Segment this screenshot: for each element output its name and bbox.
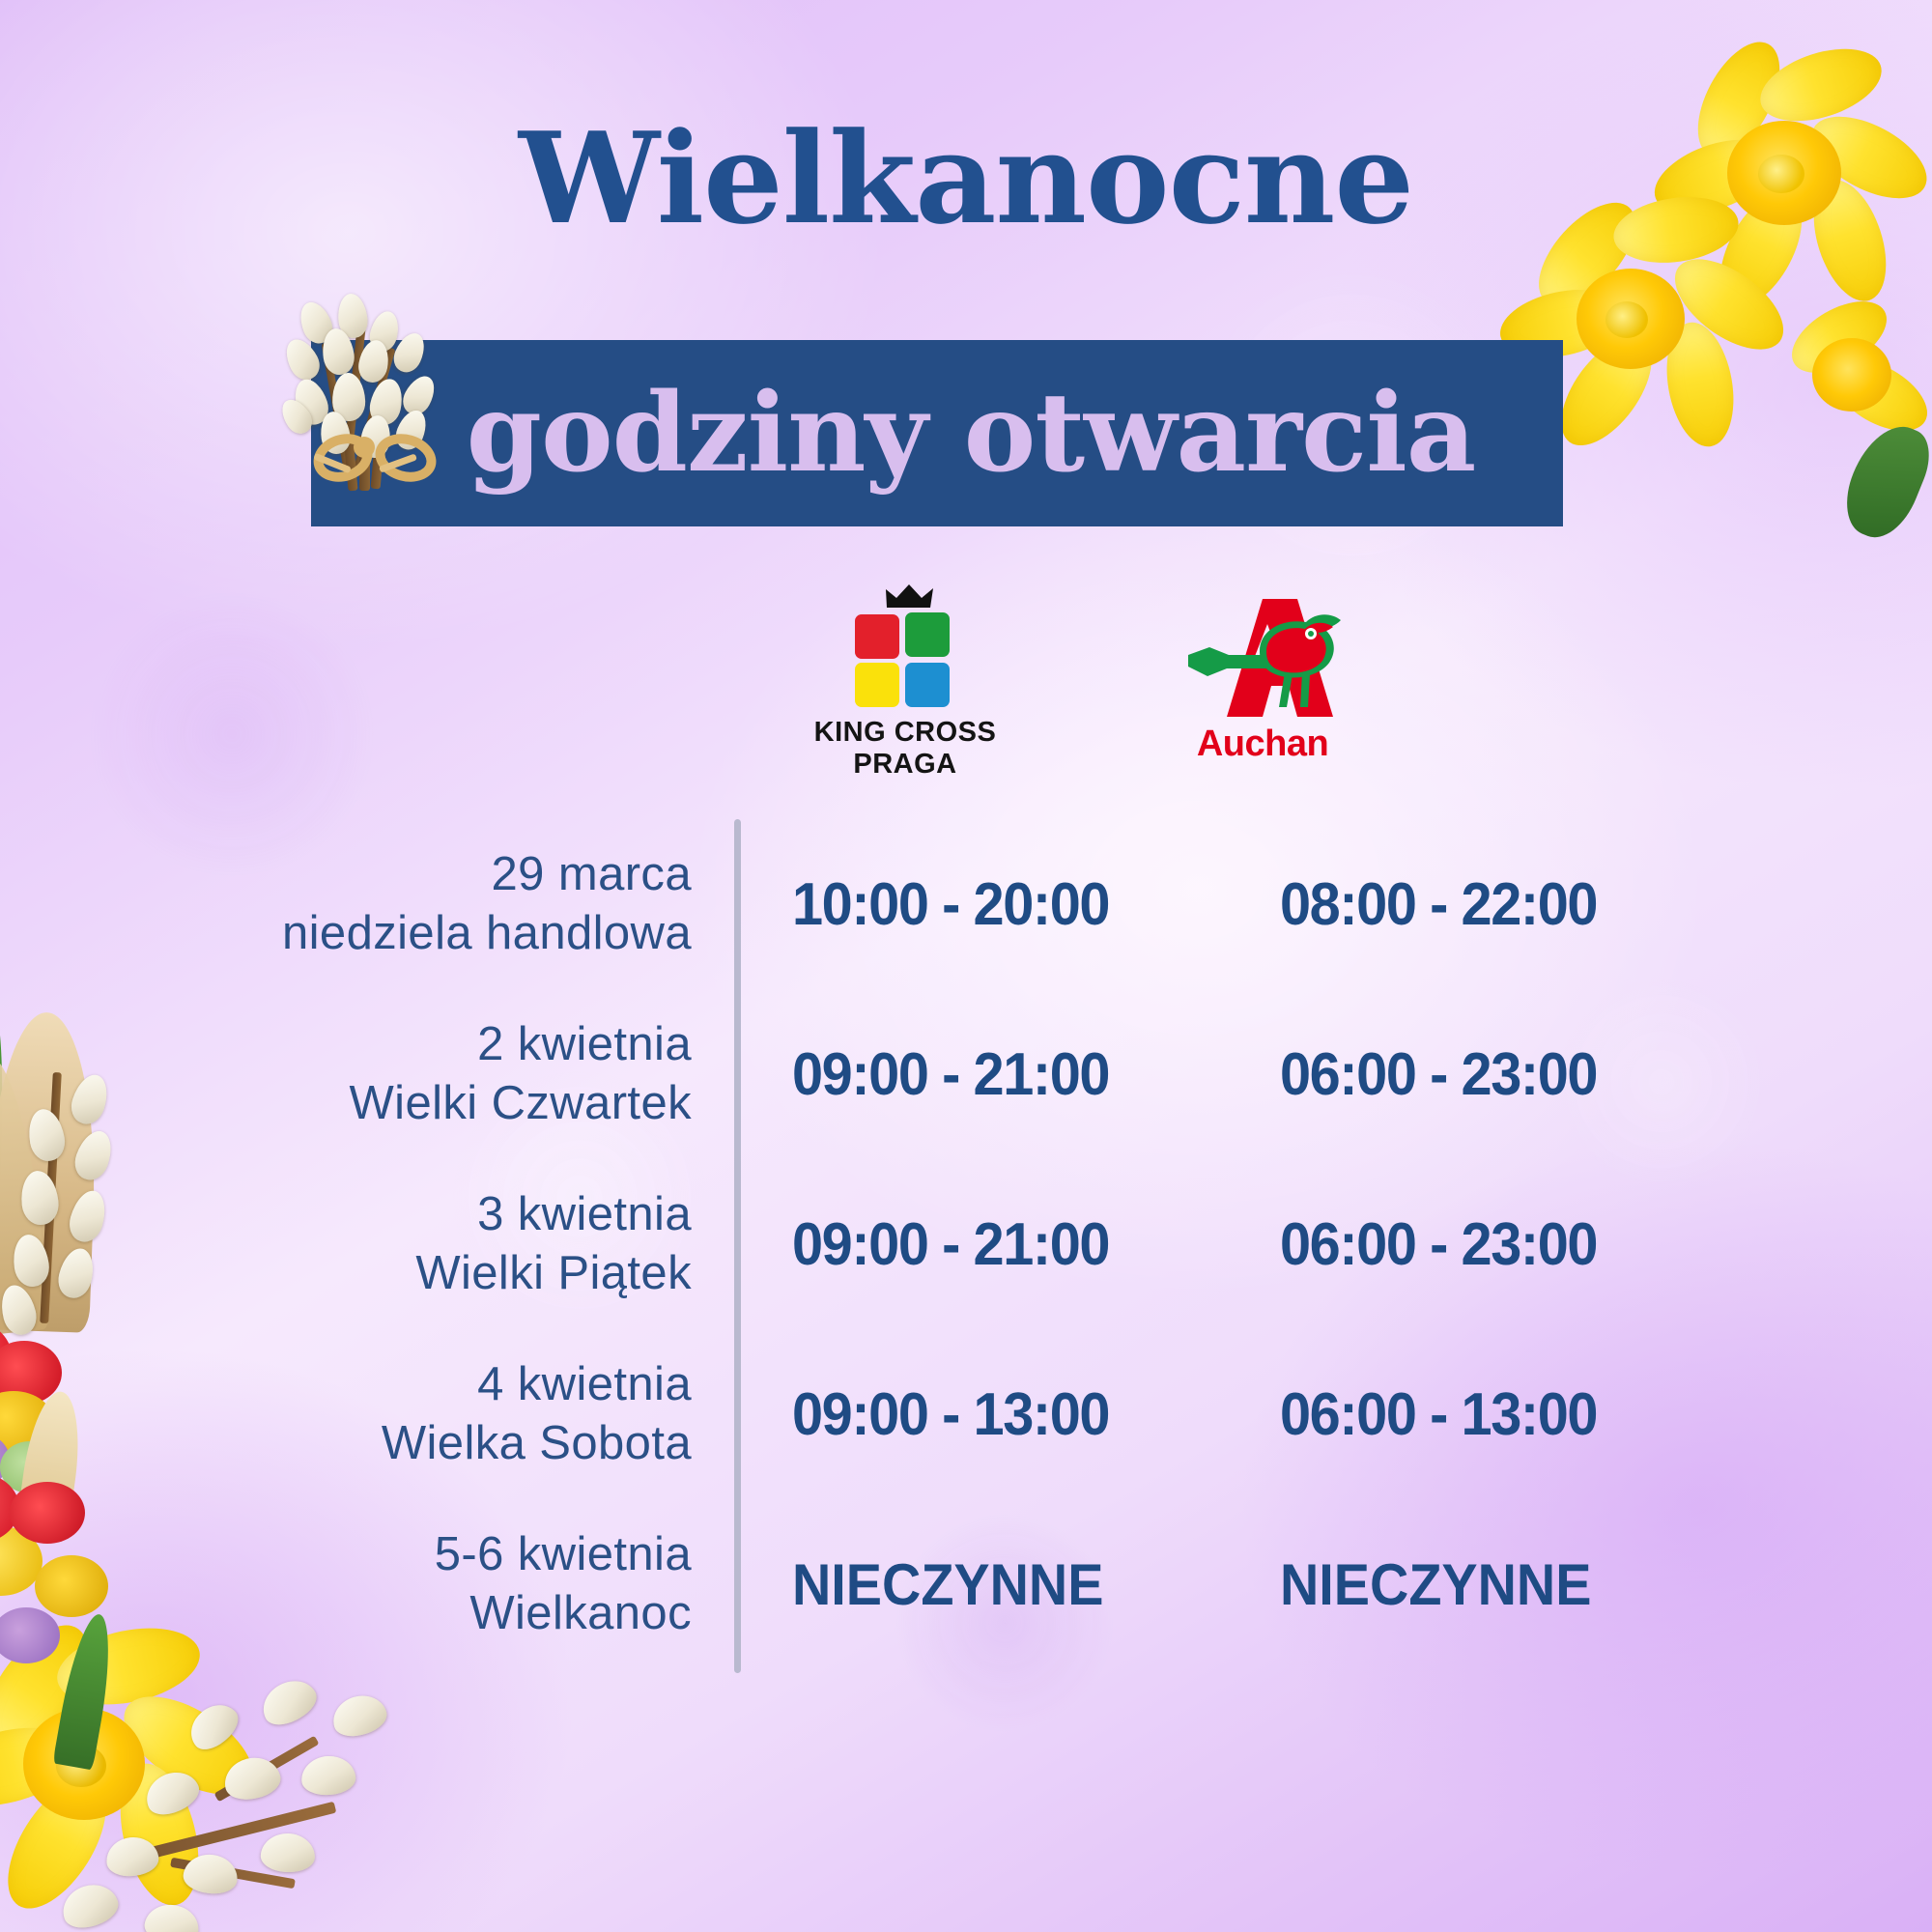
day-text: Wielki Piątek: [415, 1244, 692, 1303]
crown-icon: [885, 583, 935, 609]
row-date-label: 3 kwietnia Wielki Piątek: [0, 1159, 692, 1329]
day-text: niedziela handlowa: [282, 904, 692, 963]
date-text: 3 kwietnia: [477, 1185, 692, 1244]
auchan-hours: 08:00 - 22:00: [1280, 819, 1658, 989]
king-cross-hours: 10:00 - 20:00: [792, 819, 1170, 989]
table-row: 3 kwietnia Wielki Piątek 09:00 - 21:00 0…: [0, 1159, 1932, 1329]
logo-line-1: KING CROSS: [814, 717, 997, 749]
logo-square-red: [855, 614, 899, 659]
auchan-logo: Auchan: [1103, 589, 1422, 802]
date-text: 4 kwietnia: [477, 1355, 692, 1414]
day-text: Wielki Czwartek: [350, 1074, 692, 1133]
king-cross-logo-text: KING CROSS PRAGA: [814, 717, 997, 781]
date-text: 29 marca: [492, 845, 692, 904]
store-logos-row: KING CROSS PRAGA: [736, 589, 1702, 802]
auchan-hours: NIECZYNNE: [1280, 1499, 1658, 1669]
page-title-line2: godziny otwarcia: [311, 340, 1563, 526]
logo-square-green: [905, 612, 950, 657]
row-date-label: 2 kwietnia Wielki Czwartek: [0, 989, 692, 1159]
row-date-label: 5-6 kwietnia Wielkanoc: [0, 1499, 692, 1669]
auchan-hours: 06:00 - 23:00: [1280, 989, 1658, 1159]
row-date-label: 29 marca niedziela handlowa: [0, 819, 692, 989]
auchan-mark-icon: [1171, 591, 1354, 722]
logo-line-2: PRAGA: [814, 749, 997, 781]
date-text: 5-6 kwietnia: [435, 1525, 692, 1584]
auchan-logo-text: Auchan: [1197, 724, 1328, 765]
logo-square-yellow: [855, 663, 899, 707]
date-text: 2 kwietnia: [477, 1015, 692, 1074]
table-row: 4 kwietnia Wielka Sobota 09:00 - 13:00 0…: [0, 1329, 1932, 1499]
king-cross-mark-icon: [852, 599, 958, 705]
easter-opening-hours-poster: Wielkanocne godziny otwarcia: [0, 0, 1932, 1932]
pussy-willow-bouquet-decoration: [278, 290, 462, 483]
day-text: Wielkanoc: [469, 1584, 692, 1643]
table-row: 2 kwietnia Wielki Czwartek 09:00 - 21:00…: [0, 989, 1932, 1159]
king-cross-hours: 09:00 - 21:00: [792, 1159, 1170, 1329]
auchan-hours: 06:00 - 13:00: [1280, 1329, 1658, 1499]
logo-square-blue: [905, 663, 950, 707]
row-date-label: 4 kwietnia Wielka Sobota: [0, 1329, 692, 1499]
king-cross-praga-logo: KING CROSS PRAGA: [746, 589, 1065, 802]
king-cross-hours: 09:00 - 13:00: [792, 1329, 1170, 1499]
day-text: Wielka Sobota: [382, 1414, 692, 1473]
page-title-line1: Wielkanocne: [0, 116, 1932, 241]
table-row: 5-6 kwietnia Wielkanoc NIECZYNNE NIECZYN…: [0, 1499, 1932, 1669]
opening-hours-table: 29 marca niedziela handlowa 10:00 - 20:0…: [0, 819, 1932, 1669]
auchan-hours: 06:00 - 23:00: [1280, 1159, 1658, 1329]
king-cross-hours: NIECZYNNE: [792, 1499, 1170, 1669]
table-row: 29 marca niedziela handlowa 10:00 - 20:0…: [0, 819, 1932, 989]
king-cross-hours: 09:00 - 21:00: [792, 989, 1170, 1159]
